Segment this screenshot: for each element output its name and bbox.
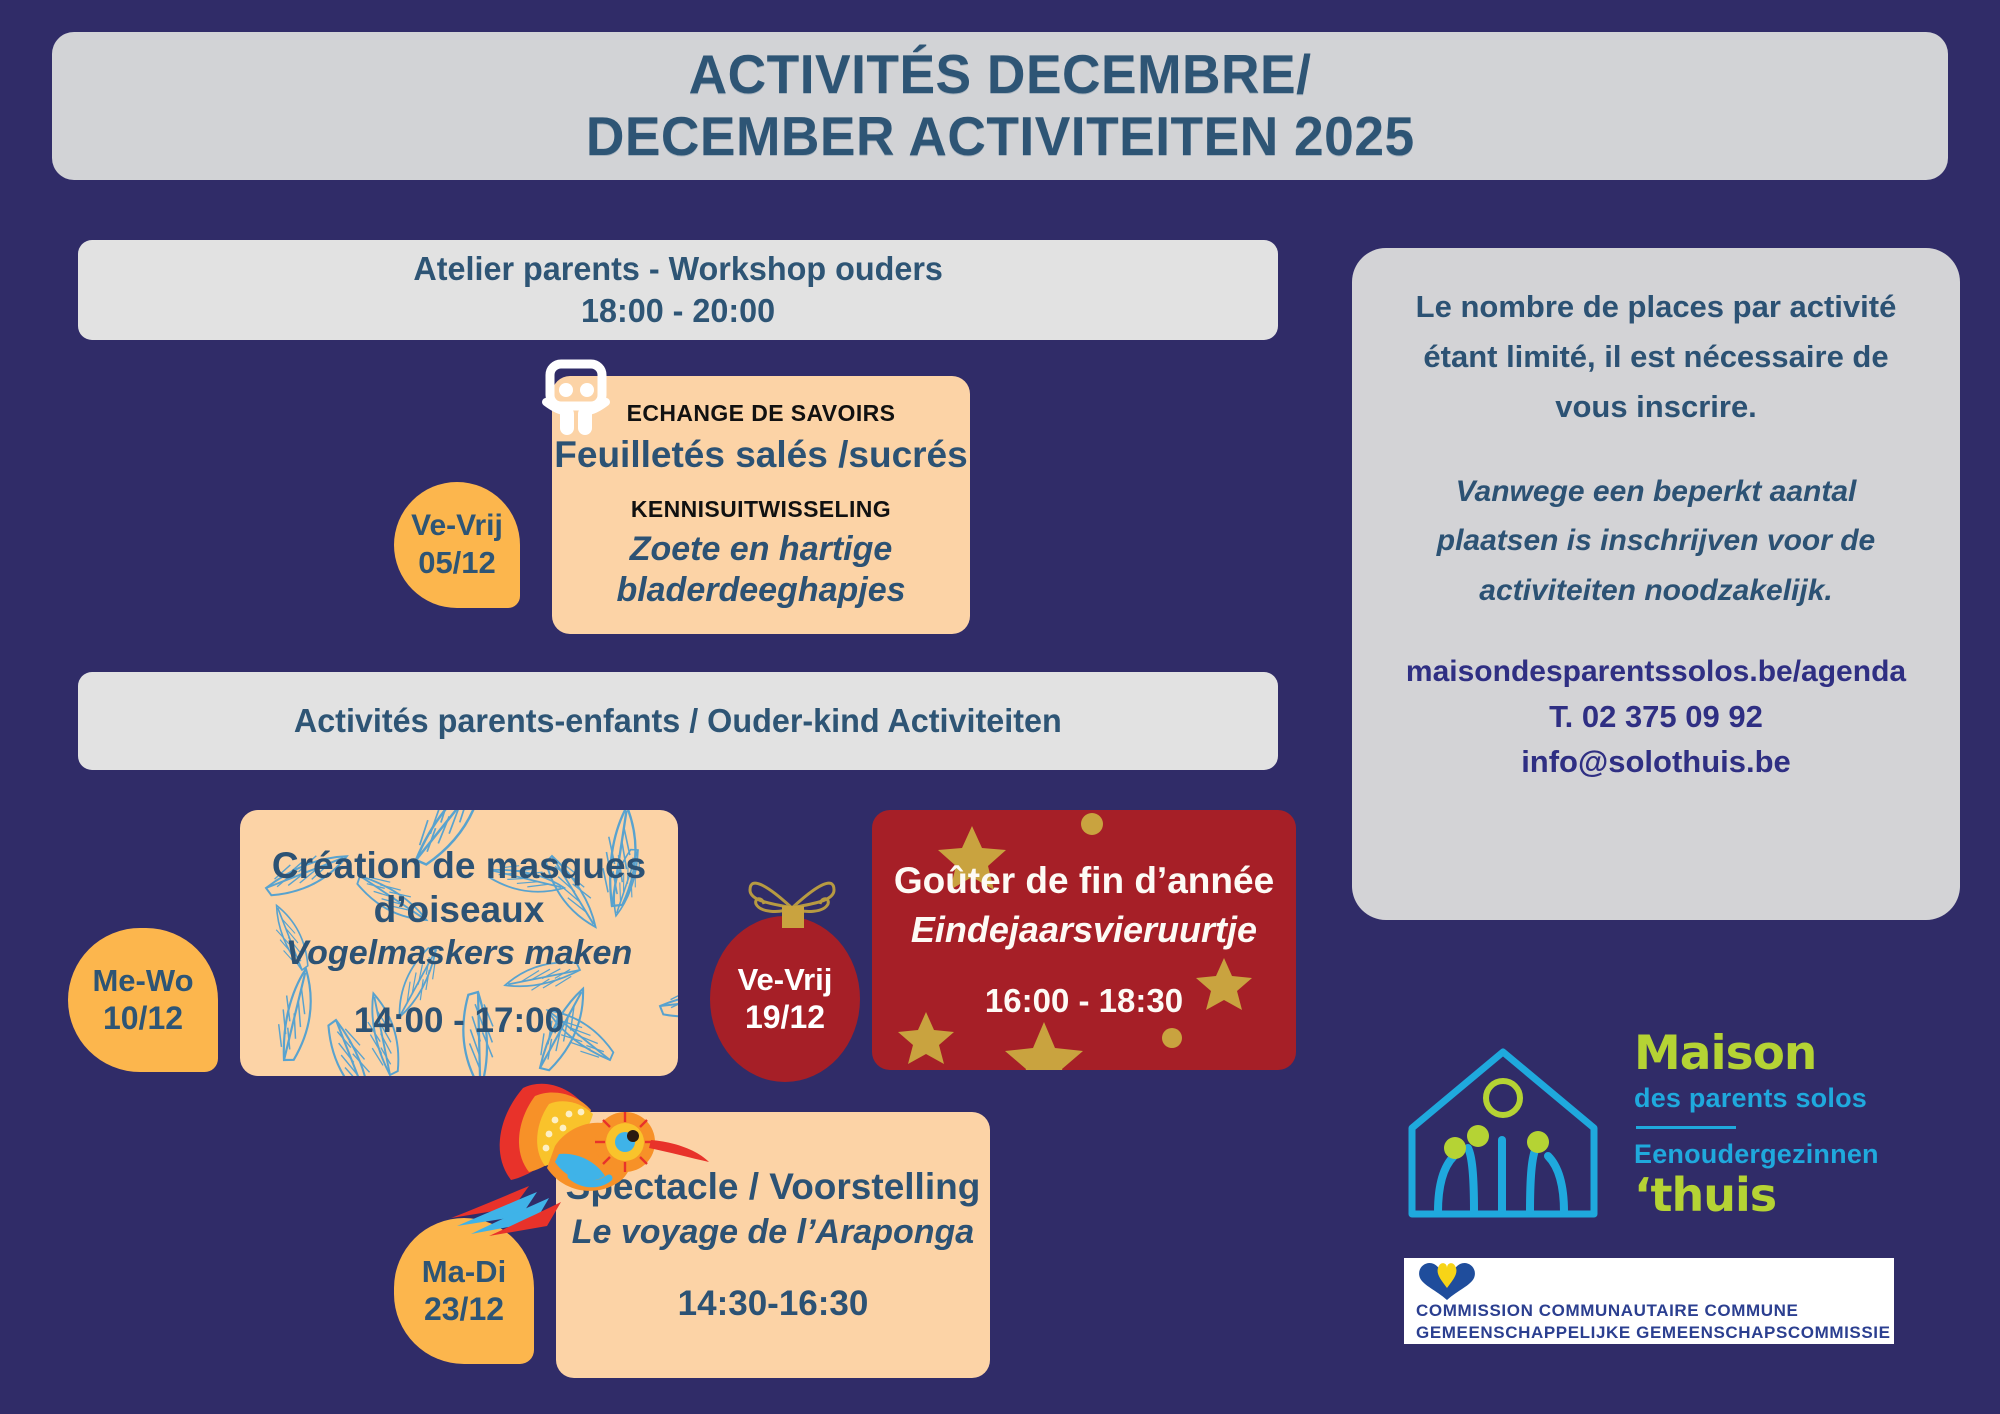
gouter-fin-annee-content: Goûter de fin d’année Eindejaarsvieruurt…	[894, 859, 1274, 1020]
section-workshop-time: 18:00 - 20:00	[581, 290, 775, 332]
info-spacer	[1378, 433, 1934, 467]
cocom-line-fr: COMMISSION COMMUNAUTAIRE COMMUNE	[1416, 1300, 1891, 1322]
activity-card-gouter-fin-annee: Goûter de fin d’année Eindejaarsvieruurt…	[872, 810, 1296, 1070]
website-link[interactable]: maisondesparentssolos.be/agenda	[1378, 650, 1934, 694]
cocom-text: COMMISSION COMMUNAUTAIRE COMMUNE GEMEENS…	[1416, 1300, 1891, 1344]
page-title-banner: ACTIVITÉS DECEMBRE/ DECEMBER ACTIVITEITE…	[52, 32, 1948, 180]
cocom-line-nl: GEMEENSCHAPPELIJKE GEMEENSCHAPSCOMMISSIE	[1416, 1322, 1891, 1344]
section-parent-child-title: Activités parents-enfants / Ouder-kind A…	[294, 700, 1062, 742]
phone-number[interactable]: T. 02 375 09 92	[1378, 694, 1934, 739]
poster-root: ACTIVITÉS DECEMBRE/ DECEMBER ACTIVITEITE…	[0, 0, 2000, 1414]
date-badge-19-12: Ve-Vrij 19/12	[710, 916, 860, 1082]
masques-oiseaux-title-fr-2: d’oiseaux	[272, 888, 646, 932]
echange-savoirs-title-nl-1: Zoete en hartige	[554, 529, 967, 570]
date-badge-05-12: Ve-Vrij 05/12	[394, 482, 520, 608]
info-nl-line-2: plaatsen is inschrijven voor de	[1378, 516, 1934, 566]
date-badge-19-12-day: Ve-Vrij	[738, 961, 833, 998]
info-nl-line-1: Vanwege een beperkt aantal	[1378, 467, 1934, 517]
masques-oiseaux-title-nl: Vogelmaskers maken	[272, 933, 646, 974]
registration-info-panel: Le nombre de places par activité étant l…	[1352, 248, 1960, 920]
page-title-line-2: DECEMBER ACTIVITEITEN 2025	[586, 106, 1415, 168]
date-badge-10-12-day: Me-Wo	[92, 962, 193, 999]
info-nl-line-3: activiteiten noodzakelijk.	[1378, 566, 1934, 616]
info-fr-line-3: vous inscrire.	[1378, 382, 1934, 432]
cocom-logo-block: COMMISSION COMMUNAUTAIRE COMMUNE GEMEENS…	[1404, 1258, 1894, 1344]
logo-thuis-text: ‘thuis	[1634, 1172, 1964, 1218]
section-header-parent-child: Activités parents-enfants / Ouder-kind A…	[78, 672, 1278, 770]
spectacle-time: 14:30-16:30	[566, 1283, 981, 1325]
date-badge-10-12: Me-Wo 10/12	[68, 928, 218, 1072]
info-fr-line-2: étant limité, il est nécessaire de	[1378, 332, 1934, 382]
info-spacer-2	[1378, 616, 1934, 650]
echange-savoirs-title-nl-2: bladerdeeghapjes	[554, 570, 967, 611]
logo-maison-text: Maison	[1634, 1030, 1964, 1077]
date-badge-23-12-num: 23/12	[424, 1290, 504, 1328]
logo-des-parents-solos-text: des parents solos	[1634, 1083, 1964, 1114]
date-badge-05-12-day: Ve-Vrij	[411, 508, 503, 544]
gouter-title-fr: Goûter de fin d’année	[894, 859, 1274, 903]
section-workshop-title: Atelier parents - Workshop ouders	[413, 248, 943, 290]
cocom-heart-icon	[1414, 1260, 1480, 1305]
organisation-logo-text: Maison des parents solos Eenoudergezinne…	[1634, 1030, 1964, 1218]
hummingbird-icon	[443, 1068, 713, 1243]
logo-divider	[1636, 1126, 1736, 1129]
christmas-bauble-ribbon-icon	[732, 846, 852, 937]
organisation-logo: Maison des parents solos Eenoudergezinne…	[1398, 1030, 1958, 1230]
section-header-workshop: Atelier parents - Workshop ouders 18:00 …	[78, 240, 1278, 340]
date-badge-05-12-num: 05/12	[418, 544, 496, 581]
logo-eenoudergezinnen-text: Eenoudergezinnen	[1634, 1139, 1964, 1170]
info-fr-line-1: Le nombre de places par activité	[1378, 282, 1934, 332]
date-badge-10-12-num: 10/12	[103, 999, 183, 1037]
echange-savoirs-label-nl: KENNISUITWISSELING	[554, 495, 967, 525]
masques-oiseaux-title-fr-1: Création de masques	[272, 844, 646, 888]
house-family-icon	[1398, 1036, 1608, 1231]
masques-oiseaux-content: Création de masques d’oiseaux Vogelmaske…	[272, 844, 646, 1042]
cookie-jar-icon	[540, 358, 620, 449]
date-badge-19-12-num: 19/12	[745, 998, 825, 1036]
date-badge-23-12-day: Ma-Di	[422, 1253, 506, 1290]
activity-card-echange-savoirs: ECHANGE DE SAVOIRS Feuilletés salés /suc…	[552, 376, 970, 634]
email-address[interactable]: info@solothuis.be	[1378, 739, 1934, 784]
masques-oiseaux-time: 14:00 - 17:00	[272, 1000, 646, 1042]
gouter-time: 16:00 - 18:30	[894, 981, 1274, 1021]
gouter-title-nl: Eindejaarsvieruurtje	[894, 908, 1274, 951]
activity-card-masques-oiseaux: Création de masques d’oiseaux Vogelmaske…	[240, 810, 678, 1076]
page-title-line-1: ACTIVITÉS DECEMBRE/	[689, 44, 1312, 106]
